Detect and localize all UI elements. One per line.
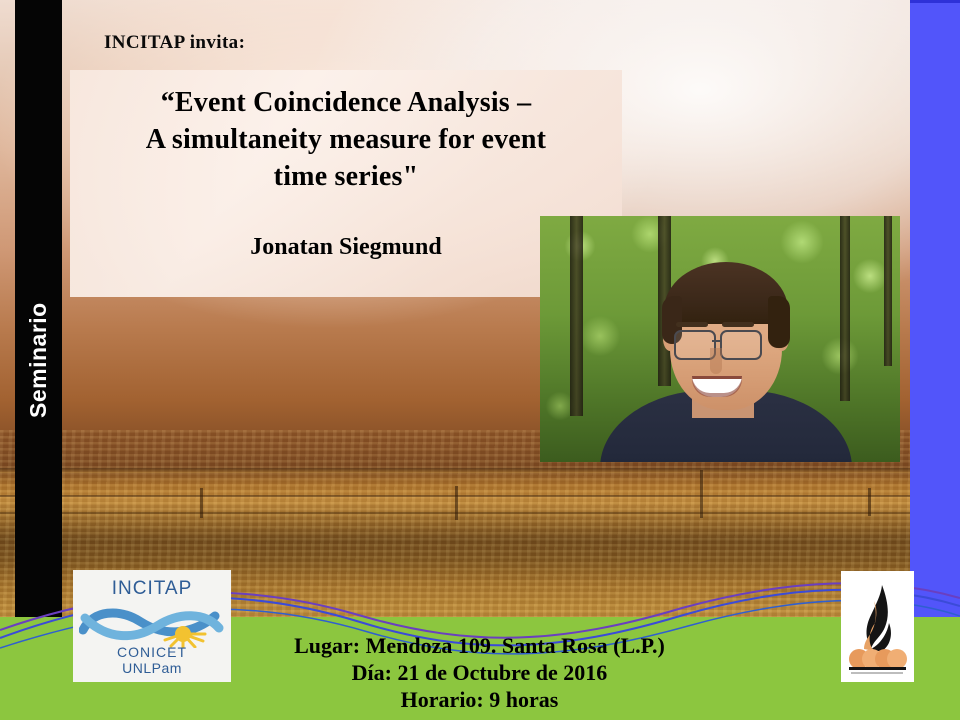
invitation-line: INCITAP invita: <box>104 32 245 54</box>
talk-title: “Event Coincidence Analysis – A simultan… <box>88 84 604 196</box>
background-fence-post <box>200 488 203 518</box>
photo-person-hair-side-right <box>768 296 790 348</box>
photo-person-eyebrow-right <box>722 322 754 327</box>
event-time: Horario: 9 horas <box>62 687 897 714</box>
sidebar-label-seminario: Seminario <box>15 0 62 720</box>
background-horizon-line <box>0 468 960 473</box>
event-date: Día: 21 de Octubre de 2016 <box>62 660 897 687</box>
photo-tree-trunk <box>884 216 892 366</box>
seminar-poster: Seminario INCITAP invita: “Event Coincid… <box>0 0 960 720</box>
background-fence-post <box>455 486 458 520</box>
speaker-photo <box>540 216 900 462</box>
background-fence-wire-top <box>0 495 960 497</box>
speaker-name: Jonatan Siegmund <box>88 234 604 261</box>
photo-tree-trunk <box>840 216 850 401</box>
photo-person-eyebrow-left <box>676 322 708 327</box>
right-blue-band <box>910 0 960 617</box>
photo-person-glasses-right-lens <box>720 330 762 360</box>
photo-person-glasses-bridge <box>712 340 722 342</box>
right-blue-band-top-edge <box>910 0 960 3</box>
background-fence-wire-bottom <box>0 512 960 514</box>
photo-tree-trunk <box>570 216 583 416</box>
talk-title-line-2: A simultaneity measure for event <box>88 121 604 158</box>
event-details: Lugar: Mendoza 109. Santa Rosa (L.P.) Dí… <box>62 633 897 713</box>
photo-person-nose <box>710 348 722 374</box>
talk-title-line-1: “Event Coincidence Analysis – <box>88 84 604 121</box>
background-fence-post <box>700 470 703 518</box>
talk-title-line-3: time series" <box>88 158 604 195</box>
background-fence-post <box>868 488 871 516</box>
event-location: Lugar: Mendoza 109. Santa Rosa (L.P.) <box>62 633 897 660</box>
photo-person <box>618 252 833 462</box>
incitap-logo-title: INCITAP <box>73 578 231 600</box>
